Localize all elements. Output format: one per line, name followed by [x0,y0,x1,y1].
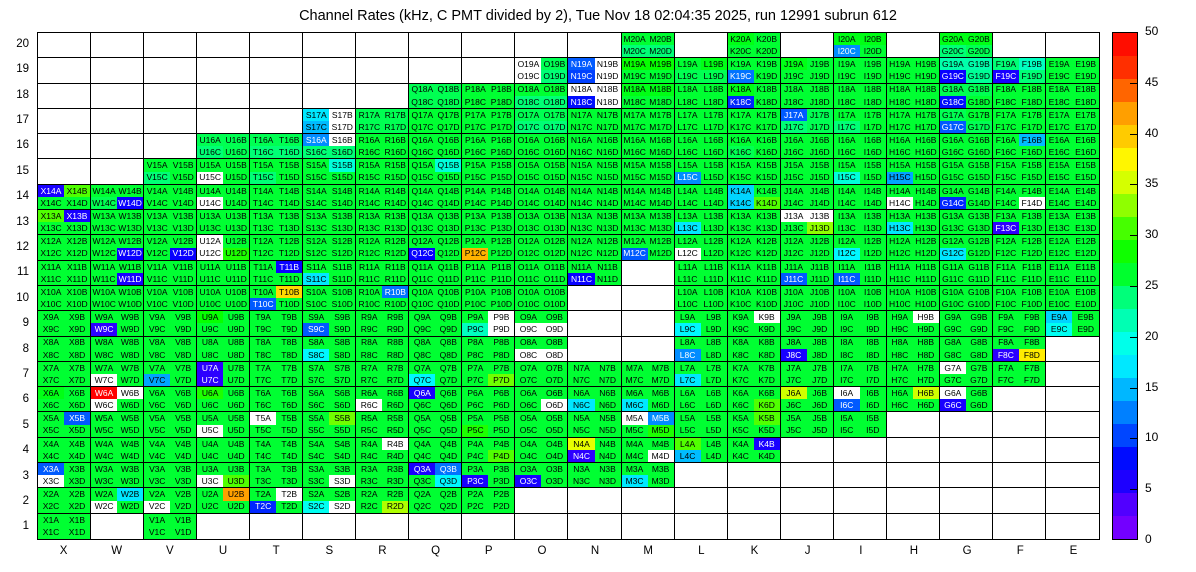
heatmap-cell: T8AT8BT8CT8D [250,337,303,362]
heatmap-subcell: Q13B [435,210,461,222]
x-axis-tick: Q [409,545,462,557]
heatmap-cell: L9AL9BL9CL9D [675,311,728,336]
heatmap-subcell: K12A [728,235,754,247]
heatmap-cell: O14AO14BO14CO14D [515,185,568,210]
heatmap-subcell: I8C [834,349,860,361]
heatmap-cell [250,514,303,539]
heatmap-subcell: T10C [250,298,276,310]
heatmap-subcell: M6C [622,399,648,411]
heatmap-subcell: N18C [568,96,594,108]
heatmap-subcell [568,311,594,323]
heatmap-cell: T7AT7BT7CT7D [250,362,303,387]
heatmap-subcell: J9D [807,323,833,335]
heatmap-subcell: T12A [250,235,276,247]
heatmap-subcell: S9C [303,323,329,335]
heatmap-subcell: G8A [940,337,966,349]
heatmap-subcell: L17C [675,121,701,133]
heatmap-subcell: G15A [940,159,966,171]
heatmap-subcell: V13D [170,222,196,234]
heatmap-subcell [329,526,355,539]
heatmap-subcell: G17B [966,109,992,121]
heatmap-subcell: R14B [382,185,408,197]
heatmap-subcell: P3C [462,475,488,487]
heatmap-subcell: P4B [488,438,514,450]
heatmap-cell: K4AK4BK4CK4D [728,438,781,463]
heatmap-subcell: J11A [781,261,807,273]
heatmap-subcell [913,475,939,487]
heatmap-subcell: U5B [223,412,249,424]
heatmap-subcell: J5B [807,412,833,424]
heatmap-subcell: I6A [834,387,860,399]
heatmap-subcell [276,121,302,133]
heatmap-cell: L6AL6BL6CL6D [675,387,728,412]
heatmap-subcell: R15A [356,159,382,171]
heatmap-cell [91,109,144,134]
heatmap-subcell: O13B [541,210,567,222]
heatmap-subcell: V7D [170,374,196,386]
heatmap-subcell: W12D [117,248,143,260]
heatmap-subcell: S16D [329,146,355,158]
heatmap-subcell: H13B [913,210,939,222]
heatmap-subcell: X13D [64,222,90,234]
heatmap-subcell: O9A [515,311,541,323]
x-axis-tick: V [143,545,196,557]
heatmap-cell [834,514,887,539]
heatmap-subcell: P14B [488,185,514,197]
heatmap-subcell [913,526,939,539]
heatmap-subcell: N13C [568,222,594,234]
heatmap-subcell: J6A [781,387,807,399]
heatmap-subcell: Q11B [435,261,461,273]
heatmap-subcell: E18C [1046,96,1073,108]
heatmap-subcell: L13B [701,210,727,222]
heatmap-subcell [675,475,701,487]
heatmap-subcell: J5A [781,412,807,424]
heatmap-subcell: O14B [541,185,567,197]
heatmap-cell: V4AV4BV4CV4D [144,438,197,463]
heatmap-subcell: O4D [541,450,567,462]
heatmap-subcell: Q13D [435,222,461,234]
heatmap-subcell: E16C [1046,146,1073,158]
heatmap-subcell: X2D [64,501,90,513]
heatmap-cell: J16AJ16BJ16CJ16D [781,134,834,159]
heatmap-cell [38,109,91,134]
heatmap-cell [197,84,250,109]
heatmap-subcell [462,58,488,70]
heatmap-subcell: E14D [1072,197,1099,209]
heatmap-subcell [834,475,860,487]
heatmap-subcell: I9B [860,311,886,323]
heatmap-cell: T15AT15BT15CT15D [250,159,303,184]
heatmap-cell [356,84,409,109]
heatmap-subcell: I14A [834,185,860,197]
heatmap-subcell [144,84,170,96]
heatmap-subcell: S3C [303,475,329,487]
heatmap-subcell: L18A [675,84,701,96]
heatmap-subcell: U14B [223,185,249,197]
heatmap-subcell: P15D [488,172,514,184]
heatmap-subcell: S3B [329,463,355,475]
heatmap-subcell: L8D [701,349,727,361]
heatmap-subcell: T14D [276,197,302,209]
heatmap-subcell [887,45,913,57]
heatmap-subcell: G12A [940,235,966,247]
heatmap-cell: Q15AQ15BQ15CQ15D [409,159,462,184]
heatmap-subcell [781,438,807,450]
heatmap-subcell: H14C [887,197,913,209]
heatmap-subcell: N5B [595,412,621,424]
heatmap-subcell: U6C [197,399,223,411]
heatmap-subcell [409,33,435,45]
heatmap-subcell: L10D [701,298,727,310]
heatmap-cell: G8AG8BG8CG8D [940,337,993,362]
heatmap-subcell: J7B [807,362,833,374]
heatmap-subcell: T13B [276,210,302,222]
heatmap-subcell: L19D [701,70,727,82]
heatmap-subcell: H19C [887,70,913,82]
heatmap-subcell: T4A [250,438,276,450]
heatmap-subcell [993,438,1019,450]
heatmap-cell: M17AM17BM17CM17D [622,109,675,134]
heatmap-subcell: P16C [462,146,488,158]
x-axis-tick: L [675,545,728,557]
heatmap-cell: G6AG6BG6CG6D [940,387,993,412]
heatmap-subcell: J6D [807,399,833,411]
heatmap-subcell: K15B [754,159,780,171]
heatmap-subcell: F16C [993,146,1019,158]
heatmap-subcell: T8D [276,349,302,361]
heatmap-subcell: P10C [462,298,488,310]
heatmap-cell: M16AM16BM16CM16D [622,134,675,159]
heatmap-cell: H18AH18BH18CH18D [887,84,940,109]
heatmap-cell: R17AR17BR17CR17D [356,109,409,134]
heatmap-subcell: R4D [382,450,408,462]
heatmap-subcell [462,45,488,57]
heatmap-subcell: I6C [834,399,860,411]
heatmap-cell: U12AU12BU12CU12D [197,235,250,260]
heatmap-subcell: S15D [329,172,355,184]
heatmap-cell: K8AK8BK8CK8D [728,337,781,362]
heatmap-subcell: M18A [622,84,648,96]
heatmap-subcell [648,488,674,500]
heatmap-cell [940,463,993,488]
heatmap-subcell [1019,425,1045,437]
heatmap-subcell: X12A [38,235,64,247]
heatmap-cell: M13AM13BM13CM13D [622,210,675,235]
heatmap-subcell [754,514,780,527]
heatmap-subcell: Q4B [435,438,461,450]
heatmap-subcell [701,463,727,475]
heatmap-subcell [64,45,90,57]
heatmap-subcell: J8D [807,349,833,361]
heatmap-subcell: P7D [488,374,514,386]
heatmap-subcell: G7D [966,374,992,386]
heatmap-cell: F17AF17BF17CF17D [993,109,1046,134]
heatmap-subcell: S2B [329,488,355,500]
heatmap-subcell: U12D [223,248,249,260]
heatmap-subcell: U9D [223,323,249,335]
heatmap-subcell [117,514,143,527]
heatmap-subcell: G13B [966,210,992,222]
heatmap-subcell: R3C [356,475,382,487]
heatmap-subcell: L12B [701,235,727,247]
heatmap-cell [622,286,675,311]
heatmap-cell: M7AM7BM7CM7D [622,362,675,387]
heatmap-subcell: T13C [250,222,276,234]
heatmap-subcell: T6D [276,399,302,411]
heatmap-subcell [807,450,833,462]
heatmap-subcell: U4D [223,450,249,462]
heatmap-subcell: K9A [728,311,754,323]
heatmap-cell: P15AP15BP15CP15D [462,159,515,184]
heatmap-subcell: O16C [515,146,541,158]
heatmap-subcell: K16D [754,146,780,158]
heatmap-subcell: K10D [754,298,780,310]
heatmap-subcell: M14B [648,185,674,197]
heatmap-cell: U6AU6BU6CU6D [197,387,250,412]
heatmap-subcell: N3D [595,475,621,487]
heatmap-subcell: T6B [276,387,302,399]
heatmap-cell [781,438,834,463]
heatmap-subcell [303,514,329,527]
heatmap-cell: E16AE16BE16CE16D [1046,134,1099,159]
heatmap-cell [515,514,568,539]
heatmap-cell: R3AR3BR3CR3D [356,463,409,488]
heatmap-subcell [993,45,1019,57]
heatmap-subcell: W13D [117,222,143,234]
heatmap-subcell [356,45,382,57]
heatmap-subcell [38,159,64,171]
heatmap-subcell: I11A [834,261,860,273]
heatmap-subcell: H7D [913,374,939,386]
heatmap-subcell: R15D [382,172,408,184]
heatmap-subcell: H10D [913,298,939,310]
heatmap-subcell [781,488,807,500]
heatmap-subcell: L14D [701,197,727,209]
heatmap-subcell [170,146,196,158]
colorbar-tick-label: 0 [1145,532,1152,546]
heatmap-subcell: S11D [329,273,355,285]
heatmap-subcell: O7C [515,374,541,386]
heatmap-subcell: Q13C [409,222,435,234]
heatmap-subcell: I6D [860,399,886,411]
colorbar-segment [1113,309,1137,332]
heatmap-subcell: V5B [170,412,196,424]
heatmap-subcell [223,514,249,527]
heatmap-cell: G12AG12BG12CG12D [940,235,993,260]
heatmap-subcell: R12A [356,235,382,247]
heatmap-cell: N6AN6BN6CN6D [568,387,621,412]
heatmap-subcell: F18B [1019,84,1045,96]
heatmap-subcell [622,323,648,335]
heatmap-subcell: L18B [701,84,727,96]
heatmap-subcell [515,501,541,513]
heatmap-subcell: N12C [568,248,594,260]
heatmap-subcell: G6D [966,399,992,411]
heatmap-subcell: U13D [223,222,249,234]
heatmap-subcell: H17C [887,121,913,133]
heatmap-subcell [356,526,382,539]
heatmap-subcell: M18B [648,84,674,96]
heatmap-subcell: N12A [568,235,594,247]
heatmap-subcell: E11B [1072,261,1099,273]
heatmap-subcell: L4C [675,450,701,462]
heatmap-subcell: P6A [462,387,488,399]
heatmap-subcell [860,514,886,527]
heatmap-subcell: X3A [38,463,64,475]
heatmap-subcell: M16B [648,134,674,146]
heatmap-subcell [622,526,648,539]
heatmap-cell: O5AO5BO5CO5D [515,412,568,437]
heatmap-cell: P13AP13BP13CP13D [462,210,515,235]
y-axis-tick: 5 [0,419,29,431]
heatmap-subcell: I12B [860,235,886,247]
heatmap-subcell: L7C [675,374,701,386]
heatmap-cell: H12AH12BH12CH12D [887,235,940,260]
heatmap-subcell: K7A [728,362,754,374]
heatmap-subcell: H16D [913,146,939,158]
heatmap-subcell [675,514,701,527]
heatmap-subcell: R9B [382,311,408,323]
heatmap-subcell: G16B [966,134,992,146]
heatmap-subcell: R10D [382,298,408,310]
heatmap-cell [568,337,621,362]
heatmap-cell: I15AI15BI15CI15D [834,159,887,184]
heatmap-subcell: U13A [197,210,223,222]
heatmap-subcell: W8A [91,337,117,349]
heatmap-subcell: Q5D [435,425,461,437]
heatmap-subcell: P16D [488,146,514,158]
heatmap-subcell: L15C [675,172,701,184]
heatmap-subcell: Q11C [409,273,435,285]
heatmap-cell: U10AU10BU10CU10D [197,286,250,311]
heatmap-subcell [887,33,913,45]
heatmap-subcell [223,121,249,133]
heatmap-subcell: X11D [64,273,90,285]
heatmap-subcell: U15D [223,172,249,184]
heatmap-subcell: N13D [595,222,621,234]
heatmap-subcell: V2B [170,488,196,500]
heatmap-subcell: U11A [197,261,223,273]
heatmap-cell [568,33,621,58]
heatmap-subcell: H18A [887,84,913,96]
heatmap-subcell: W2B [117,488,143,500]
heatmap-subcell: G19D [966,70,992,82]
heatmap-subcell [568,286,594,298]
heatmap-subcell: J8A [781,337,807,349]
heatmap-subcell [1072,33,1099,45]
heatmap-subcell: U13C [197,222,223,234]
heatmap-cell: O10AO10BO10CO10D [515,286,568,311]
heatmap-subcell: T2B [276,488,302,500]
heatmap-subcell: V9C [144,323,170,335]
heatmap-subcell: O9C [515,323,541,335]
heatmap-cell: R4AR4BR4CR4D [356,438,409,463]
heatmap-subcell [64,33,90,45]
heatmap-subcell [515,33,541,45]
heatmap-subcell: K13B [754,210,780,222]
heatmap-subcell: H9C [887,323,913,335]
heatmap-cell [622,261,675,286]
heatmap-subcell: P5C [462,425,488,437]
heatmap-cell: J18AJ18BJ18CJ18D [781,84,834,109]
heatmap-cell: H13AH13BH13CH13D [887,210,940,235]
heatmap-subcell [1046,463,1073,475]
colorbar-tick-label: 25 [1145,278,1158,292]
heatmap-subcell: R17C [356,121,382,133]
heatmap-subcell: I17C [834,121,860,133]
heatmap-subcell [860,438,886,450]
heatmap-subcell: O6C [515,399,541,411]
heatmap-subcell: I19C [834,70,860,82]
heatmap-cell: Q12AQ12BQ12CQ12D [409,235,462,260]
heatmap-subcell: I16A [834,134,860,146]
heatmap-subcell: M3C [622,475,648,487]
heatmap-subcell: K6C [728,399,754,411]
heatmap-subcell: J18A [781,84,807,96]
heatmap-subcell: X10C [38,298,64,310]
heatmap-subcell: T2A [250,488,276,500]
heatmap-subcell: I18B [860,84,886,96]
heatmap-cell [250,84,303,109]
heatmap-subcell: K15D [754,172,780,184]
heatmap-subcell [303,96,329,108]
heatmap-cell [887,463,940,488]
heatmap-subcell: W2D [117,501,143,513]
heatmap-subcell [64,96,90,108]
heatmap-subcell: V2C [144,501,170,513]
heatmap-subcell [648,323,674,335]
heatmap-cell: R10AR10BR10CR10D [356,286,409,311]
heatmap-subcell: O15C [515,172,541,184]
heatmap-subcell [993,387,1019,399]
heatmap-subcell: X6D [64,399,90,411]
heatmap-subcell: O8A [515,337,541,349]
heatmap-subcell: Q13A [409,210,435,222]
heatmap-subcell: K7D [754,374,780,386]
heatmap-cell: M3AM3BM3CM3D [622,463,675,488]
heatmap-subcell: K7C [728,374,754,386]
heatmap-subcell [1019,475,1045,487]
heatmap-subcell: E17B [1072,109,1099,121]
heatmap-cell: K16AK16BK16CK16D [728,134,781,159]
heatmap-cell: V10AV10BV10CV10D [144,286,197,311]
heatmap-subcell: J9C [781,323,807,335]
heatmap-subcell [144,70,170,82]
heatmap-cell: J9AJ9BJ9CJ9D [781,311,834,336]
heatmap-subcell [329,514,355,527]
heatmap-subcell: Q9D [435,323,461,335]
heatmap-subcell [435,526,461,539]
heatmap-subcell: I16D [860,146,886,158]
heatmap-cell: V9AV9BV9CV9D [144,311,197,336]
heatmap-subcell: F16D [1019,146,1045,158]
heatmap-subcell: I10D [860,298,886,310]
heatmap-subcell [1046,33,1073,45]
heatmap-cell: N4AN4BN4CN4D [568,438,621,463]
heatmap-cell [91,58,144,83]
heatmap-subcell: T4D [276,450,302,462]
heatmap-subcell: J8C [781,349,807,361]
heatmap-subcell: N16A [568,134,594,146]
heatmap-subcell: K18C [728,96,754,108]
heatmap-subcell: U11D [223,273,249,285]
heatmap-subcell: K10A [728,286,754,298]
heatmap-subcell: G20B [966,33,992,45]
heatmap-subcell: Q6A [409,387,435,399]
heatmap-subcell: G16D [966,146,992,158]
heatmap-subcell: X1D [64,526,90,539]
